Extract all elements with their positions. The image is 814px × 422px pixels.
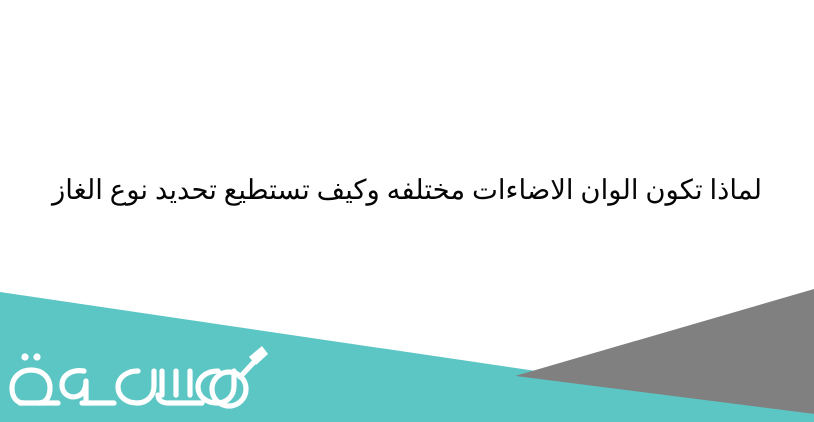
article-cover: لماذا تكون الوان الاضاءات مختلفه وكيف تس… <box>0 0 814 422</box>
logo-dot-right <box>33 353 40 360</box>
logo-dot-left <box>21 353 28 360</box>
logo-letter-waw-1 <box>118 371 154 403</box>
page-title: لماذا تكون الوان الاضاءات مختلفه وكيف تس… <box>52 173 762 207</box>
logo-letter-ain <box>62 371 114 403</box>
teal-corner-shape <box>515 376 814 422</box>
headline-container: لماذا تكون الوان الاضاءات مختلفه وكيف تس… <box>0 150 814 230</box>
gray-triangle-shape <box>515 289 814 414</box>
site-logo[interactable]: موسوعة <box>6 341 268 415</box>
logo-letter-taa-marbuta <box>12 370 58 403</box>
